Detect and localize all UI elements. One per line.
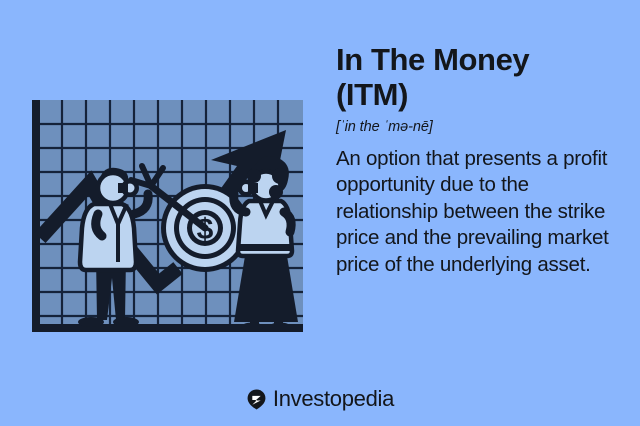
term-title: In The Money (ITM) [336,42,632,112]
investopedia-logo-icon [246,389,267,410]
itm-illustration: $ [18,88,318,340]
itm-definition-card: $ [0,0,640,426]
investopedia-wordmark: Investopedia [273,388,394,410]
term-text-column: In The Money (ITM) [ˈin the ˈmə-nē] An o… [336,42,632,299]
illustration-svg: $ [18,88,318,340]
term-pronunciation: [ˈin the ˈmə-nē] [336,119,632,135]
term-definition: An option that presents a profit opportu… [336,146,632,278]
investopedia-logo: Investopedia [0,388,640,410]
y-axis [32,100,40,332]
